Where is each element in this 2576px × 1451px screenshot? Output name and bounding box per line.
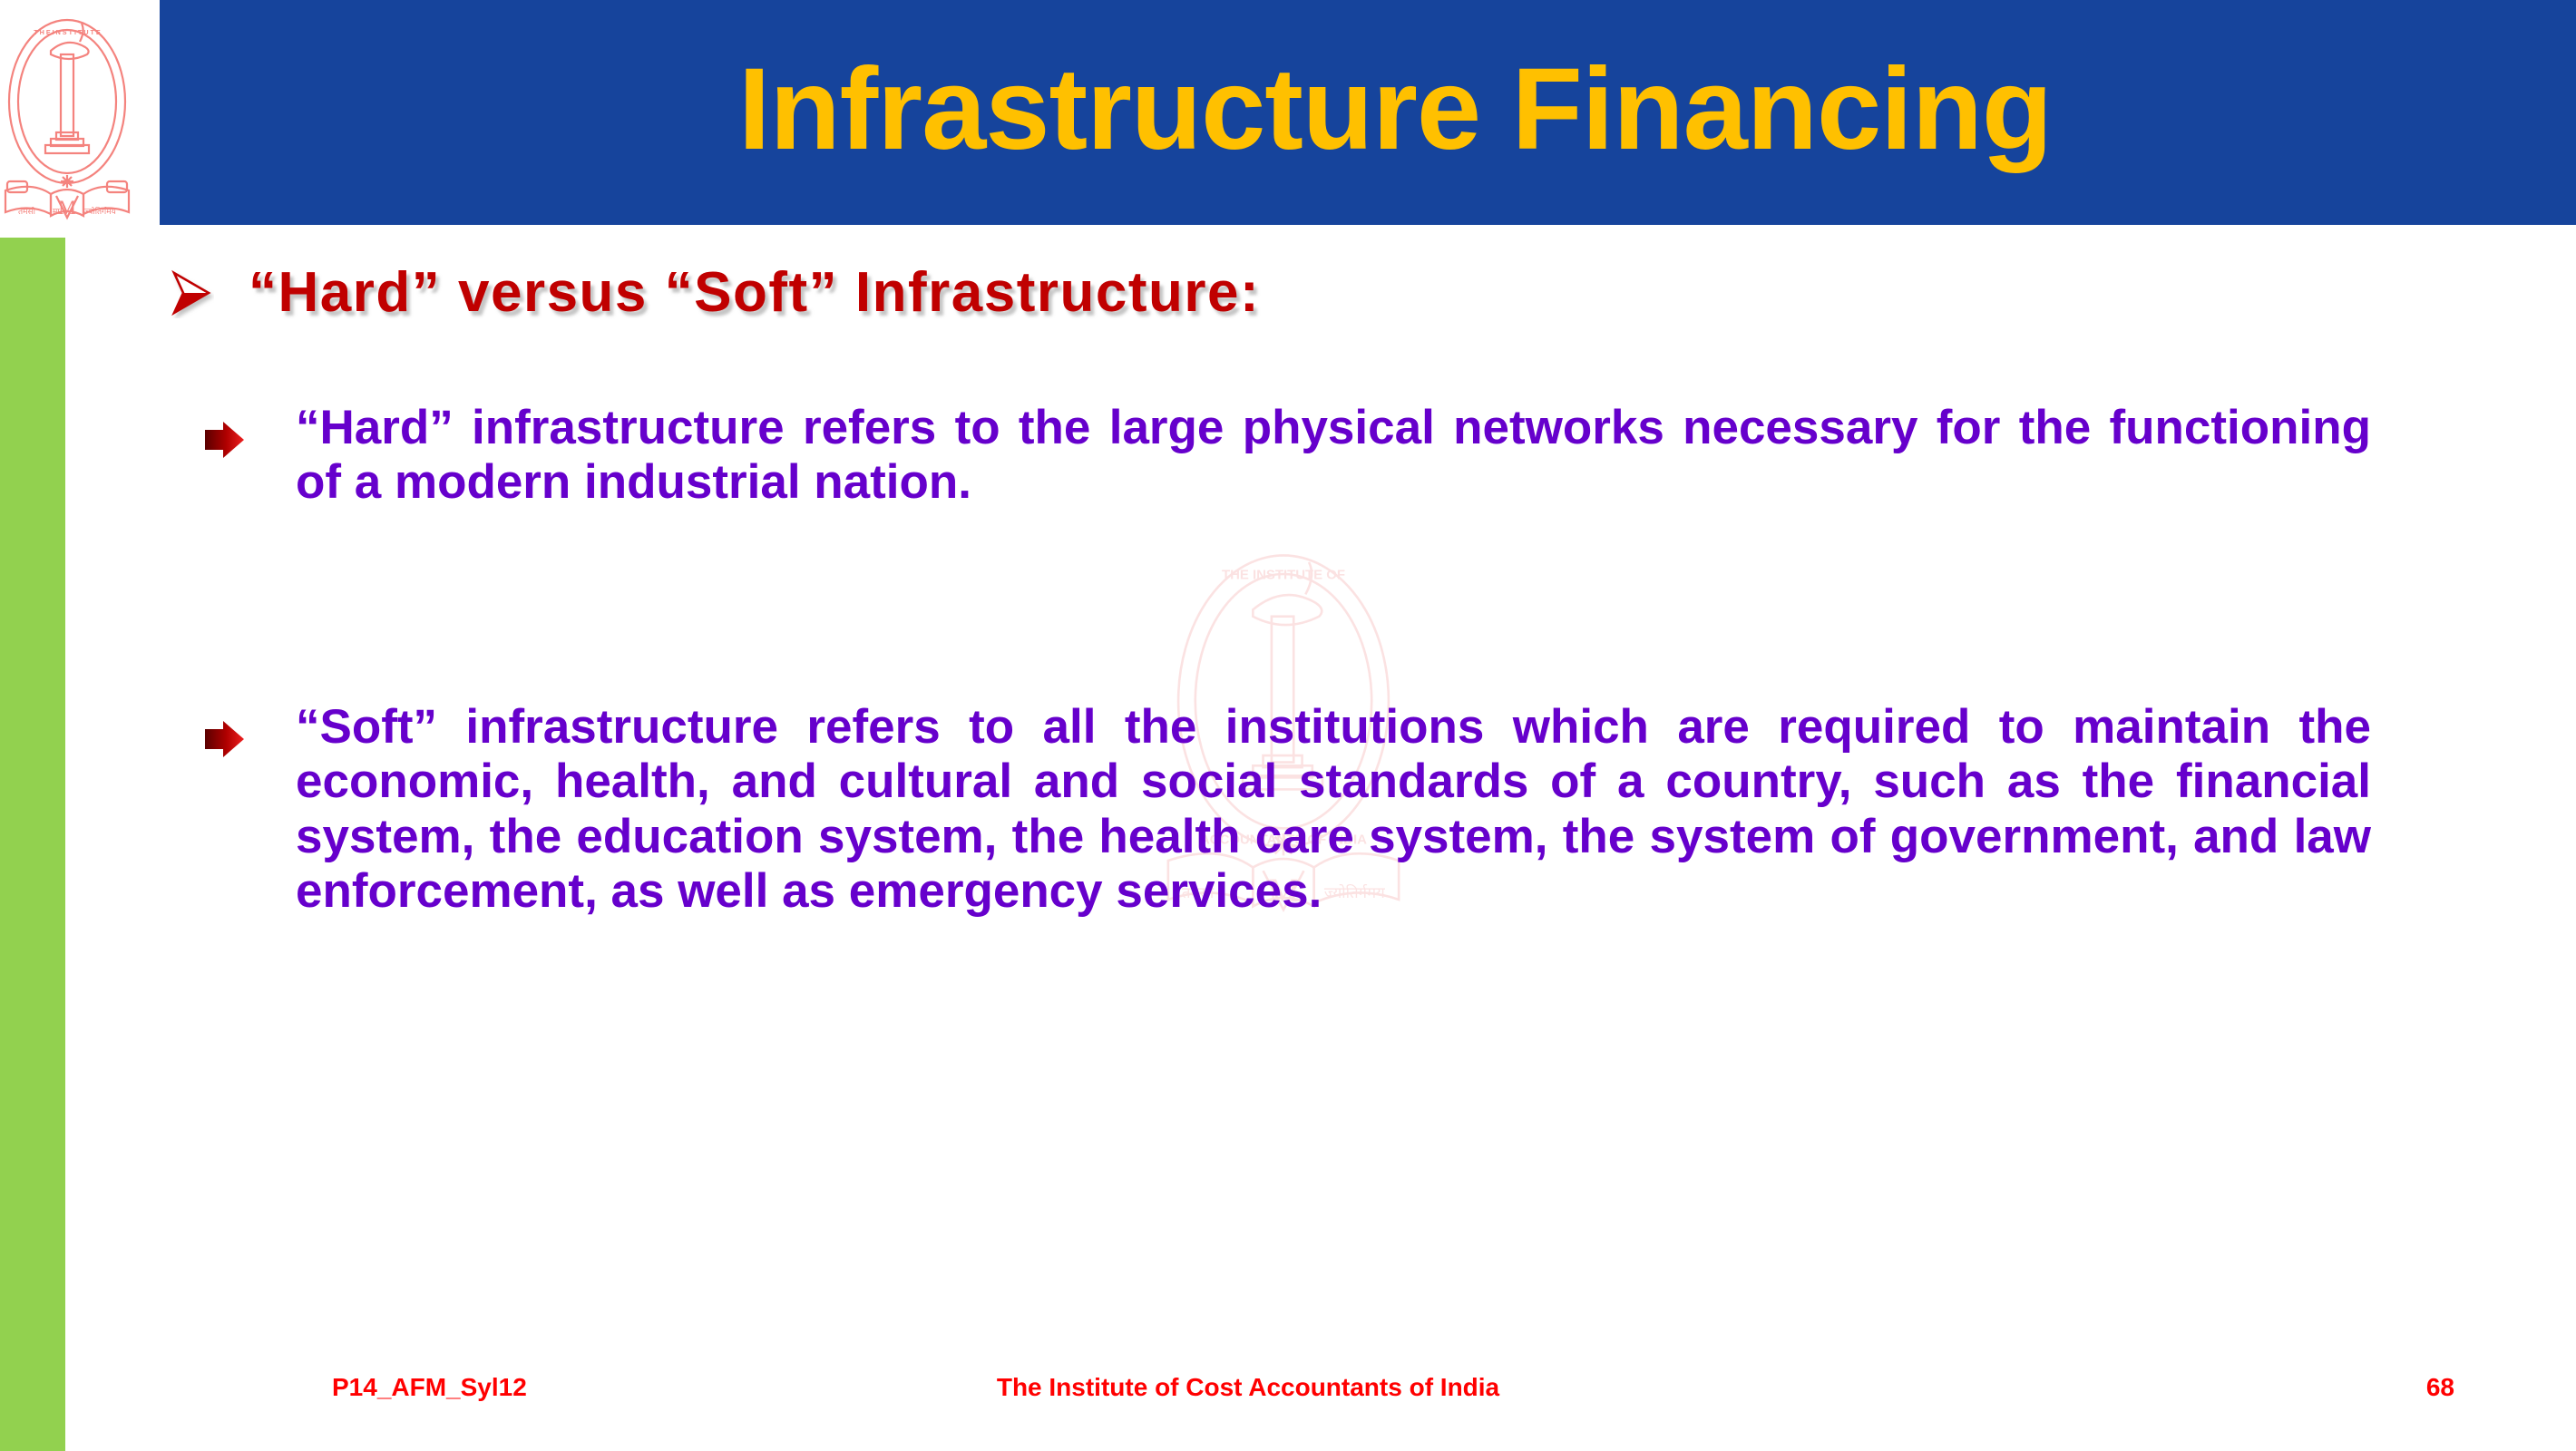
arrow-right-solid-bullet-icon xyxy=(203,421,250,463)
arrow-right-solid-bullet-icon xyxy=(203,720,250,763)
footer-institute-name: The Institute of Cost Accountants of Ind… xyxy=(160,1373,2337,1402)
slide-canvas: Infrastructure Financing xyxy=(0,0,2576,1451)
arrow-right-outline-bullet-icon xyxy=(169,268,218,323)
bullet-item: “Hard” infrastructure refers to the larg… xyxy=(203,401,2371,511)
left-accent-strip xyxy=(0,238,65,1451)
bullet-line: “Soft” infrastructure refers to all the … xyxy=(296,700,2270,754)
section-heading-row: “Hard” versus “Soft” Infrastructure: xyxy=(169,260,1260,325)
slide-footer: P14_AFM_Syl12 The Institute of Cost Acco… xyxy=(160,1360,2518,1415)
bullet-text: “Soft” infrastructure refers to all the … xyxy=(296,700,2371,920)
slide-content: “Hard” versus “Soft” Infrastructure: xyxy=(160,238,2427,1290)
footer-page-number: 68 xyxy=(2426,1373,2454,1402)
svg-text:M: M xyxy=(58,196,76,219)
bullet-item: “Soft” infrastructure refers to all the … xyxy=(203,700,2371,920)
svg-text:ज्योतिर्गमय: ज्योतिर्गमय xyxy=(83,206,117,216)
bullet-line: “Hard” infrastructure refers to the larg… xyxy=(296,401,2091,454)
svg-text:तमसो: तमसो xyxy=(18,206,36,216)
bullet-text: “Hard” infrastructure refers to the larg… xyxy=(296,401,2371,511)
bullet-line: services. xyxy=(1116,864,1322,918)
svg-text:T H E I N S T I T U T E: T H E I N S T I T U T E xyxy=(34,28,101,36)
section-heading-text: “Hard” versus “Soft” Infrastructure: xyxy=(249,260,1260,325)
icai-logo: T H E I N S T I T U T E तमसो मा ज्योतिर्… xyxy=(0,0,160,238)
page-title: Infrastructure Financing xyxy=(684,52,2052,173)
title-bar: Infrastructure Financing xyxy=(160,0,2576,225)
